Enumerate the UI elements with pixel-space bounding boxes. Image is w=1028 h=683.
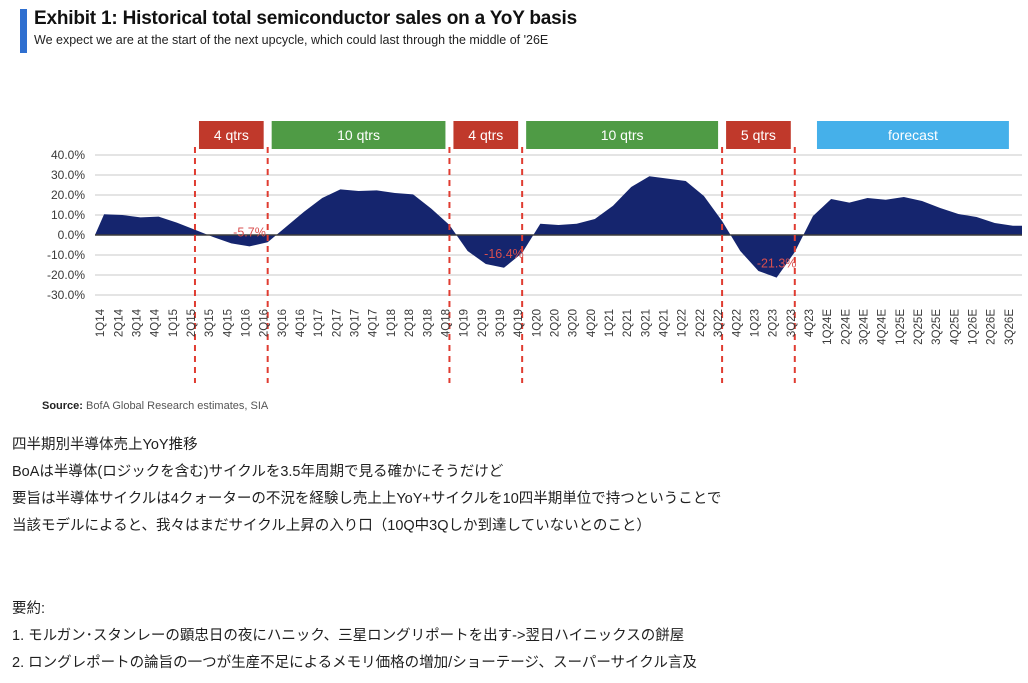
x-axis-tick-label: 4Q18 — [440, 309, 452, 337]
cycle-band-label: 4 qtrs — [214, 127, 249, 143]
commentary-block: 四半期別半導体売上YoY推移 BoAは半導体(ロジックを含む)サイクルを3.5年… — [12, 432, 1012, 540]
cycle-band-forecast: forecast — [817, 121, 1009, 149]
cycle-band-label: 10 qtrs — [601, 127, 644, 143]
x-axis-tick-label: 4Q19 — [513, 309, 525, 337]
y-axis-tick-label: 10.0% — [51, 208, 85, 222]
x-axis-tick-label: 2Q16 — [259, 309, 271, 337]
x-axis-tick-label: 1Q18 — [386, 309, 398, 337]
x-axis-tick-label: 4Q16 — [295, 309, 307, 337]
x-axis-tick-label: 4Q24E — [877, 309, 889, 345]
x-axis-tick-label: 1Q16 — [241, 309, 253, 337]
x-axis-tick-label: 3Q23 — [786, 309, 798, 337]
page-title: Exhibit 1: Historical total semiconducto… — [34, 8, 1028, 30]
cycle-band-downturn: 4 qtrs — [199, 121, 264, 149]
trough-annotation-label: -5.7% — [233, 226, 266, 240]
x-axis-tick-label: 1Q14 — [95, 309, 107, 338]
cycle-band-downturn: 4 qtrs — [453, 121, 518, 149]
x-axis-tick-label: 3Q14 — [131, 309, 143, 338]
x-axis-tick-label: 4Q20 — [586, 309, 598, 337]
x-axis-tick-label: 3Q25E — [931, 309, 943, 345]
x-axis-tick-label: 3Q19 — [495, 309, 507, 337]
x-axis-tick-label: 1Q17 — [313, 309, 325, 337]
x-axis-tick-label: 1Q15 — [168, 309, 180, 337]
cycle-band-labels: 4 qtrs10 qtrs4 qtrs10 qtrs5 qtrsforecast — [199, 121, 1009, 149]
x-axis-tick-label: 4Q25E — [949, 309, 961, 345]
y-axis-tick-label: -20.0% — [47, 268, 85, 282]
x-axis-tick-label: 1Q25E — [895, 309, 907, 345]
x-axis-tick-label: 2Q24E — [840, 309, 852, 345]
x-axis-tick-label: 2Q17 — [331, 309, 343, 337]
y-axis-tick-label: 30.0% — [51, 168, 85, 182]
cycle-band-upturn: 10 qtrs — [526, 121, 718, 149]
y-axis-tick-label: 0.0% — [58, 228, 86, 242]
x-axis-tick-label: 4Q17 — [368, 309, 380, 337]
x-axis-tick-label: 2Q21 — [622, 309, 634, 337]
cycle-band-upturn: 10 qtrs — [272, 121, 446, 149]
exhibit-header: Exhibit 1: Historical total semiconducto… — [0, 0, 1028, 53]
x-axis-tick-label: 3Q24E — [859, 309, 871, 345]
x-axis-tick-label: 3Q18 — [422, 309, 434, 337]
x-axis-tick-label: 2Q22 — [695, 309, 707, 337]
x-axis-tick-label: 2Q26E — [986, 309, 998, 345]
x-axis-tick-label: 4Q22 — [731, 309, 743, 337]
commentary-line: 要旨は半導体サイクルは4クォーターの不況を経験し売上上YoY+サイクルを10四半… — [12, 486, 1012, 513]
x-axis-tick-label: 4Q23 — [804, 309, 816, 337]
cycle-band-downturn: 5 qtrs — [726, 121, 791, 149]
x-axis-tick-label: 3Q15 — [204, 309, 216, 337]
semiconductor-yoy-area-chart: 40.0%30.0%20.0%10.0%0.0%-10.0%-20.0%-30.… — [0, 63, 1028, 383]
source-note: Source: BofA Global Research estimates, … — [42, 400, 268, 412]
x-axis-tick-label: 2Q20 — [550, 309, 562, 337]
commentary-line: 四半期別半導体売上YoY推移 — [12, 432, 1012, 459]
x-axis-tick-label: 1Q19 — [459, 309, 471, 337]
commentary-line: 当該モデルによると、我々はまだサイクル上昇の入り口（10Q中3Qしか到達していな… — [12, 513, 1012, 540]
x-axis-tick-label: 3Q16 — [277, 309, 289, 337]
accent-bar — [20, 9, 27, 53]
x-axis-tick-label: 2Q23 — [768, 309, 780, 337]
y-axis-labels: 40.0%30.0%20.0%10.0%0.0%-10.0%-20.0%-30.… — [47, 148, 85, 302]
cycle-band-label: 4 qtrs — [468, 127, 503, 143]
summary-line: 1. モルガン･スタンレーの顕忠日の夜にハニック、三星ロングリポートを出す->翌… — [12, 623, 1012, 650]
source-label: Source: — [42, 400, 83, 412]
y-axis-tick-label: -30.0% — [47, 288, 85, 302]
cycle-band-label: 10 qtrs — [337, 127, 380, 143]
x-axis-tick-label: 3Q20 — [568, 309, 580, 337]
trough-annotation-label: -16.4% — [484, 247, 524, 261]
y-axis-tick-label: -10.0% — [47, 248, 85, 262]
y-axis-tick-label: 20.0% — [51, 188, 85, 202]
commentary-line: BoAは半導体(ロジックを含む)サイクルを3.5年周期で見る確かにそうだけど — [12, 459, 1012, 486]
x-axis-tick-label: 1Q21 — [604, 309, 616, 337]
y-axis-tick-label: 40.0% — [51, 148, 85, 162]
x-axis-tick-label: 1Q23 — [749, 309, 761, 337]
cycle-band-label: 5 qtrs — [741, 127, 776, 143]
x-axis-tick-label: 2Q14 — [113, 309, 125, 338]
x-axis-tick-label: 2Q19 — [477, 309, 489, 337]
x-axis-tick-label: 1Q20 — [531, 309, 543, 337]
summary-heading: 要約: — [12, 596, 1012, 623]
x-axis-labels: 1Q142Q143Q144Q141Q152Q153Q154Q151Q162Q16… — [95, 309, 1016, 345]
x-axis-tick-label: 4Q15 — [222, 309, 234, 337]
x-axis-tick-label: 4Q21 — [659, 309, 671, 337]
x-axis-tick-label: 2Q25E — [913, 309, 925, 345]
summary-block: 要約: 1. モルガン･スタンレーの顕忠日の夜にハニック、三星ロングリポートを出… — [12, 596, 1012, 677]
x-axis-tick-label: 3Q21 — [640, 309, 652, 337]
trough-annotation-label: -21.3% — [757, 257, 797, 271]
x-axis-tick-label: 1Q26E — [968, 309, 980, 345]
x-axis-tick-label: 1Q22 — [677, 309, 689, 337]
cycle-band-label: forecast — [888, 127, 938, 143]
summary-line: 2. ロングレポートの論旨の一つが生産不足によるメモリ価格の増加/ショーテージ、… — [12, 650, 1012, 677]
exhibit-subtitle: We expect we are at the start of the nex… — [34, 33, 1028, 47]
source-value: BofA Global Research estimates, SIA — [83, 400, 268, 412]
x-axis-tick-label: 3Q22 — [713, 309, 725, 337]
x-axis-tick-label: 4Q14 — [150, 309, 162, 338]
x-axis-tick-label: 1Q24E — [822, 309, 834, 345]
x-axis-tick-label: 2Q15 — [186, 309, 198, 337]
x-axis-tick-label: 2Q18 — [404, 309, 416, 337]
chart-container: 40.0%30.0%20.0%10.0%0.0%-10.0%-20.0%-30.… — [0, 63, 1028, 383]
x-axis-tick-label: 3Q17 — [350, 309, 362, 337]
x-axis-tick-label: 3Q26E — [1004, 309, 1016, 345]
